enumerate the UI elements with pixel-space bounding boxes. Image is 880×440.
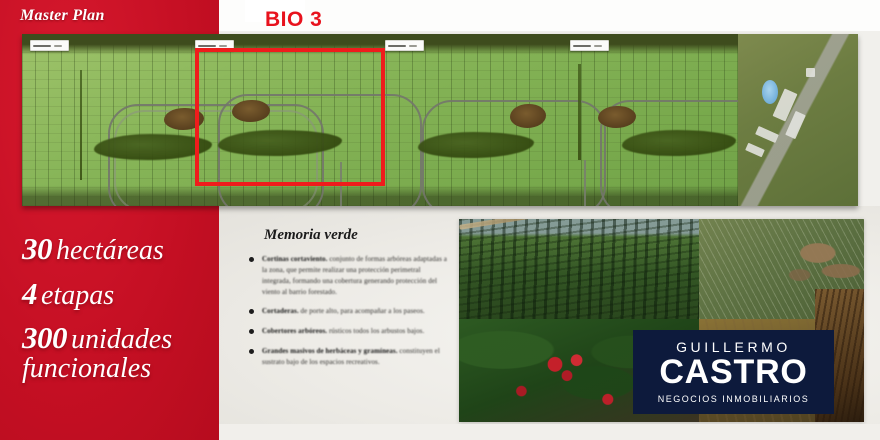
green-corridor-3 bbox=[578, 64, 581, 160]
bullet-text: Grandes masivos de herbáceas y gramíneas… bbox=[262, 346, 447, 368]
slide-root: Master Plan BIO 3 bbox=[0, 0, 880, 440]
list-item: Grandes masivos de herbáceas y gramíneas… bbox=[247, 346, 447, 368]
map-section-label-3[interactable] bbox=[385, 40, 424, 51]
stat-units-number: 300 bbox=[22, 320, 67, 355]
stat-units: 300 unidades funcionales bbox=[22, 322, 218, 383]
memoria-bullet-list: Cortinas cortaviento. conjunto de formas… bbox=[247, 254, 447, 377]
photo-conifer-hedge bbox=[459, 219, 699, 319]
bullet-dot-icon bbox=[249, 309, 254, 314]
map-section-label-4[interactable] bbox=[570, 40, 609, 51]
bullet-lead: Cobertores arbóreos. bbox=[262, 327, 327, 335]
bullet-dot-icon bbox=[249, 349, 254, 354]
entrance-area bbox=[738, 34, 858, 206]
bullet-text: Cortinas cortaviento. conjunto de formas… bbox=[262, 254, 447, 297]
bullet-text: Cobertores arbóreos. rústicos todos los … bbox=[262, 326, 447, 337]
memoria-verde-title: Memoria verde bbox=[264, 227, 358, 244]
stat-units-label: unidades bbox=[71, 324, 172, 355]
building-2 bbox=[785, 111, 806, 139]
bullet-text: Cortaderas. de porte alto, para acompaña… bbox=[262, 306, 447, 317]
stat-stages: 4 etapas bbox=[22, 277, 218, 311]
bio3-highlight-box[interactable] bbox=[195, 48, 385, 186]
bullet-lead: Cortaderas. bbox=[262, 307, 299, 315]
list-item: Cobertores arbóreos. rústicos todos los … bbox=[247, 326, 447, 337]
building-3 bbox=[755, 126, 779, 143]
logo-line-guillermo: GUILLERMO bbox=[676, 340, 791, 354]
list-item: Cortaderas. de porte alto, para acompaña… bbox=[247, 306, 447, 317]
bullet-dot-icon bbox=[249, 329, 254, 334]
masterplan-image[interactable] bbox=[22, 34, 858, 206]
green-corridor-1 bbox=[80, 70, 82, 180]
stage-label: BIO 3 bbox=[265, 8, 322, 32]
map-section-label-1[interactable] bbox=[30, 40, 69, 51]
bullet-lead: Cortinas cortaviento. bbox=[262, 255, 327, 263]
list-item: Cortinas cortaviento. conjunto de formas… bbox=[247, 254, 447, 297]
pool bbox=[762, 80, 778, 104]
building-4 bbox=[745, 143, 765, 158]
bullet-lead: Grandes masivos de herbáceas y gramíneas… bbox=[262, 347, 398, 355]
stat-hectares-number: 30 bbox=[22, 231, 52, 266]
bottom-margin-strip bbox=[219, 424, 880, 440]
stats-list: 30 hectáreas 4 etapas 300 unidades funci… bbox=[22, 232, 218, 395]
page-title: Master Plan bbox=[20, 7, 105, 25]
bullet-body: rústicos todos los arbustos bajos. bbox=[329, 327, 424, 335]
stat-units-label2: funcionales bbox=[22, 355, 218, 384]
logo-tagline: NEGOCIOS INMOBILIARIOS bbox=[658, 395, 810, 404]
stat-stages-number: 4 bbox=[22, 276, 37, 311]
brand-logo: GUILLERMO CASTRO NEGOCIOS INMOBILIARIOS bbox=[633, 330, 834, 414]
stat-hectares-label: hectáreas bbox=[56, 235, 164, 266]
bullet-dot-icon bbox=[249, 257, 254, 262]
bullet-body: de porte alto, para acompañar a los pase… bbox=[301, 307, 425, 315]
stat-hectares: 30 hectáreas bbox=[22, 232, 218, 266]
building-5 bbox=[806, 68, 815, 77]
stat-stages-label: etapas bbox=[41, 280, 114, 311]
logo-line-castro: CASTRO bbox=[659, 355, 807, 391]
road-spine-4 bbox=[584, 160, 586, 206]
aerial-photo bbox=[22, 34, 858, 206]
